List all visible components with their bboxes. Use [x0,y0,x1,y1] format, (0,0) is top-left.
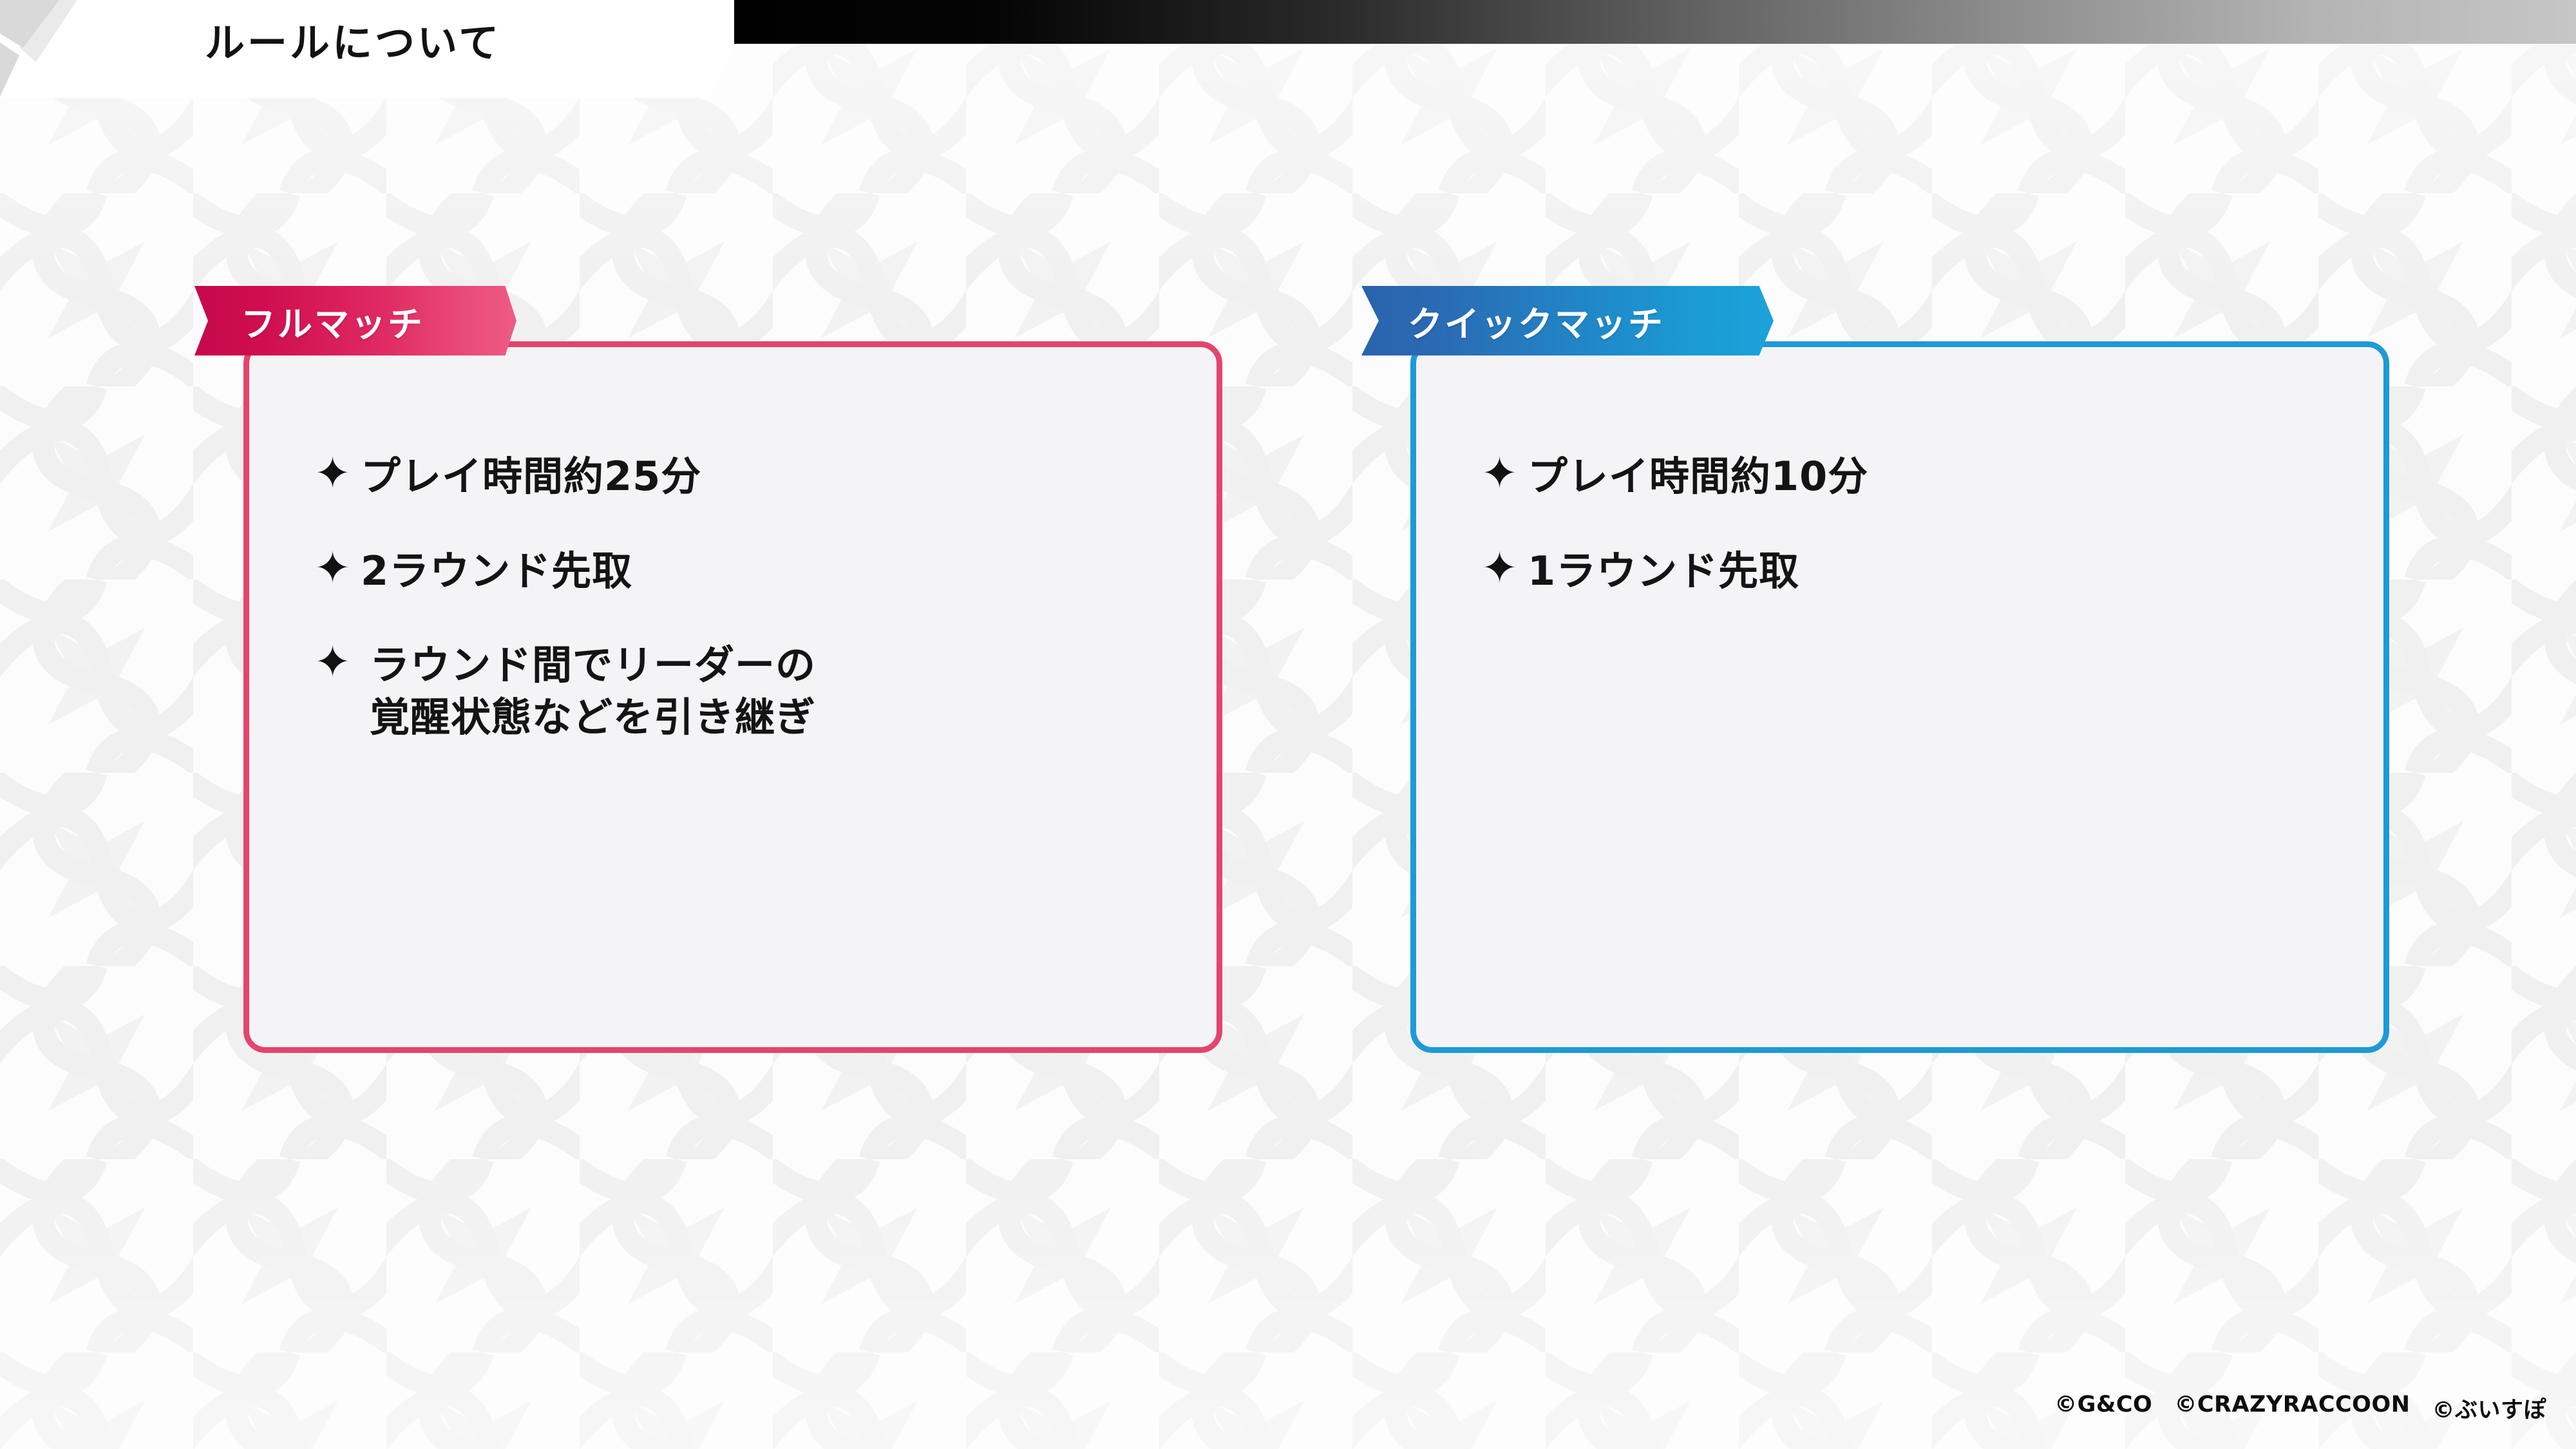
panel-full-match-list: ✦ プレイ時間約25分 ✦ 2ラウンド先取 ✦ ラウンド間でリーダーの 覚醒状態… [314,451,1190,743]
list-item: ✦ ラウンド間でリーダーの 覚醒状態などを引き継ぎ [314,639,1190,743]
panel-quick-match: クイックマッチ ✦ プレイ時間約10分 ✦ 1ラウンド先取 [1410,341,2389,1053]
ribbon-corner-icon [0,0,103,97]
list-item-label: ラウンド間でリーダーの 覚醒状態などを引き継ぎ [361,639,816,743]
top-gradient-bar [696,0,2576,44]
panel-full-match-ribbon: フルマッチ [194,286,516,355]
copyright-item: ©ぶいすぽ [2432,1392,2546,1425]
panel-quick-match-ribbon: クイックマッチ [1361,286,1774,355]
list-item: ✦ プレイ時間約10分 [1481,451,2357,503]
panel-quick-match-list: ✦ プレイ時間約10分 ✦ 1ラウンド先取 [1481,451,2357,597]
sparkle-star-icon: ✦ [314,639,361,685]
list-item-label: 2ラウンド先取 [361,545,632,598]
sparkle-star-icon: ✦ [1481,545,1528,591]
panel-full-match: フルマッチ ✦ プレイ時間約25分 ✦ 2ラウンド先取 ✦ ラウンド間でリーダー… [243,341,1222,1053]
list-item-label: プレイ時間約10分 [1528,451,1868,503]
page-title: ルールについて [205,0,694,98]
sparkle-star-icon: ✦ [1481,451,1528,497]
sparkle-star-icon: ✦ [314,451,361,497]
sparkle-star-icon: ✦ [314,545,361,591]
copyright-item: ©G&CO [2054,1392,2152,1425]
list-item: ✦ プレイ時間約25分 [314,451,1190,503]
list-item: ✦ 1ラウンド先取 [1481,545,2357,598]
panel-full-match-ribbon-label: フルマッチ [241,296,424,346]
copyright-item: ©CRAZYRACCOON [2174,1392,2410,1425]
panel-quick-match-body [1410,341,2389,1053]
slide-canvas: ルールについて フルマッチ ✦ プレイ時間約25分 ✦ 2ラウンド先取 ✦ ラウ… [0,0,2576,1449]
panel-quick-match-ribbon-label: クイックマッチ [1408,296,1665,346]
list-item-label: プレイ時間約25分 [361,451,701,503]
list-item: ✦ 2ラウンド先取 [314,545,1190,598]
copyright-notice: ©G&CO ©CRAZYRACCOON ©ぶいすぽ [2054,1392,2546,1425]
list-item-label: 1ラウンド先取 [1528,545,1799,598]
